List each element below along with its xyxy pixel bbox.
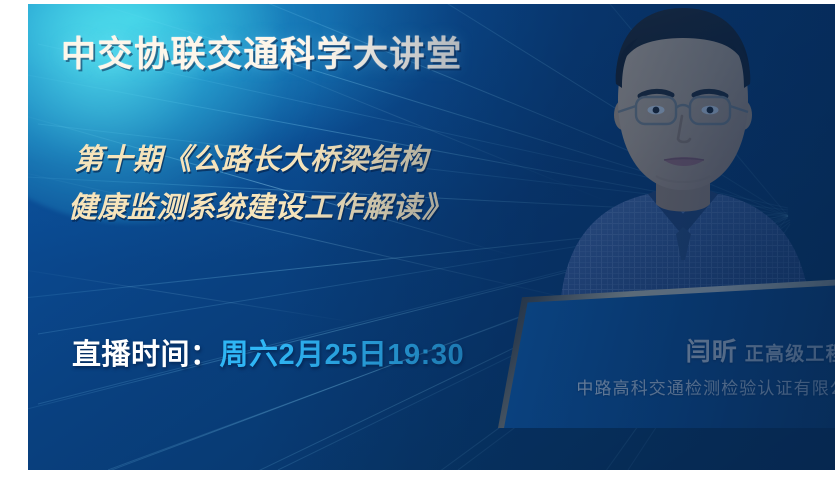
speaker-title: 正高级工程师 (745, 344, 835, 365)
page-title: 中交协联交通科学大讲堂 (61, 26, 463, 77)
episode-subtitle: 第十期《公路长大桥梁结构 健康监测系统建设工作解读》 (74, 136, 604, 232)
episode-subtitle-line1: 第十期《公路长大桥梁结构 (74, 136, 604, 184)
live-time: 直播时间：周六2月25日19:30 (72, 331, 464, 373)
speaker-name-row: 闫昕正高级工程师 (504, 332, 835, 368)
promo-poster: 中交协联交通科学大讲堂 第十期《公路长大桥梁结构 健康监测系统建设工作解读》 直… (0, 0, 840, 480)
frame-edge-right (835, 0, 840, 480)
plate-body: 闫昕正高级工程师 中路高科交通检测检验认证有限公司 (504, 282, 835, 428)
speaker-name: 闫昕 (686, 338, 738, 366)
live-time-value: 周六2月25日19:30 (220, 339, 465, 371)
speaker-organization: 中路高科交通检测检验认证有限公司 (504, 374, 835, 399)
live-time-label: 直播时间： (72, 339, 220, 371)
light-streak (28, 265, 362, 324)
frame-edge-bottom (0, 470, 840, 480)
frame-edge-left (0, 0, 28, 480)
poster-stage: 中交协联交通科学大讲堂 第十期《公路长大桥梁结构 健康监测系统建设工作解读》 直… (28, 4, 835, 470)
episode-subtitle-line2: 健康监测系统建设工作解读》 (68, 184, 604, 232)
speaker-info-plate: 闫昕正高级工程师 中路高科交通检测检验认证有限公司 (498, 276, 835, 428)
